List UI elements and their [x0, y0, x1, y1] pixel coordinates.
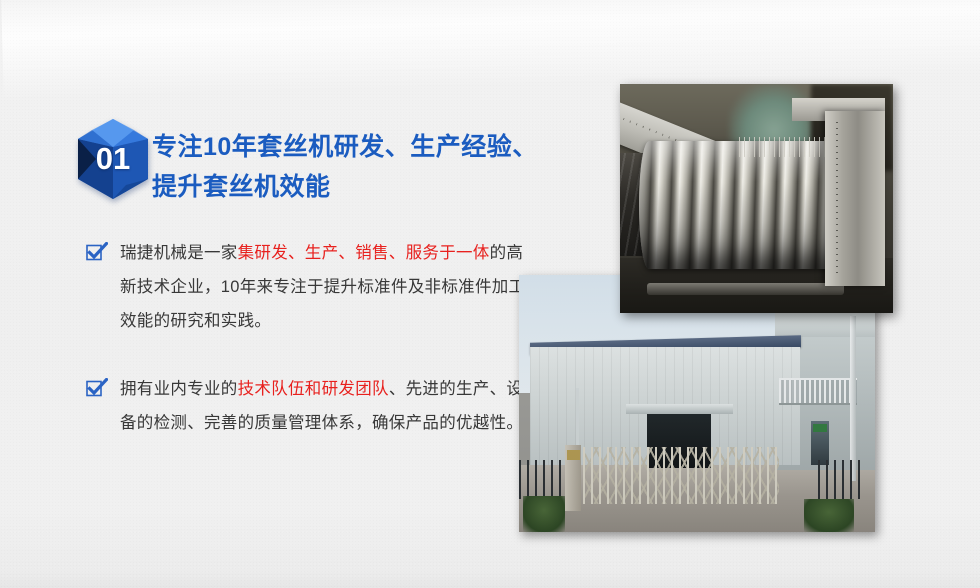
title-line-2: 提升套丝机效能 [152, 167, 552, 207]
thread-photo-content [620, 84, 893, 313]
page-title: 专注10年套丝机研发、生产经验、 提升套丝机效能 [152, 127, 552, 207]
list-item-text: 瑞捷机械是一家集研发、生产、销售、服务于一体的高新技术企业，10年来专注于提升标… [120, 236, 526, 338]
badge-number-label: 01 [74, 117, 152, 201]
factory-building-photo [519, 275, 875, 532]
title-line-1: 专注10年套丝机研发、生产经验、 [152, 127, 552, 167]
machine-bar [647, 283, 844, 294]
content-column: 01 专注10年套丝机研发、生产经验、 提升套丝机效能 瑞捷机械是一家集研发、生… [0, 0, 540, 588]
caliper-scale [825, 111, 885, 285]
text-plain: 拥有业内专业的 [120, 380, 238, 398]
threaded-pipe-photo [620, 84, 893, 313]
list-item-text: 拥有业内专业的技术队伍和研发团队、先进的生产、设备的检测、完善的质量管理体系，确… [120, 372, 526, 440]
list-item: 拥有业内专业的技术队伍和研发团队、先进的生产、设备的检测、完善的质量管理体系，确… [86, 372, 526, 440]
list-item: 瑞捷机械是一家集研发、生产、销售、服务于一体的高新技术企业，10年来专注于提升标… [86, 236, 526, 338]
promo-banner: 01 专注10年套丝机研发、生产经验、 提升套丝机效能 瑞捷机械是一家集研发、生… [0, 0, 980, 588]
text-plain: 瑞捷机械是一家 [120, 244, 238, 262]
text-highlight: 技术队伍和研发团队 [238, 380, 389, 398]
step-number-badge: 01 [74, 117, 152, 201]
checkbox-checked-icon [86, 378, 108, 398]
text-highlight: 集研发、生产、销售、服务于一体 [238, 244, 490, 262]
feature-list: 瑞捷机械是一家集研发、生产、销售、服务于一体的高新技术企业，10年来专注于提升标… [86, 236, 526, 464]
factory-photo-content [519, 275, 875, 532]
threaded-section [639, 141, 846, 269]
photo-grade-overlay [519, 275, 875, 532]
checkbox-checked-icon [86, 242, 108, 262]
